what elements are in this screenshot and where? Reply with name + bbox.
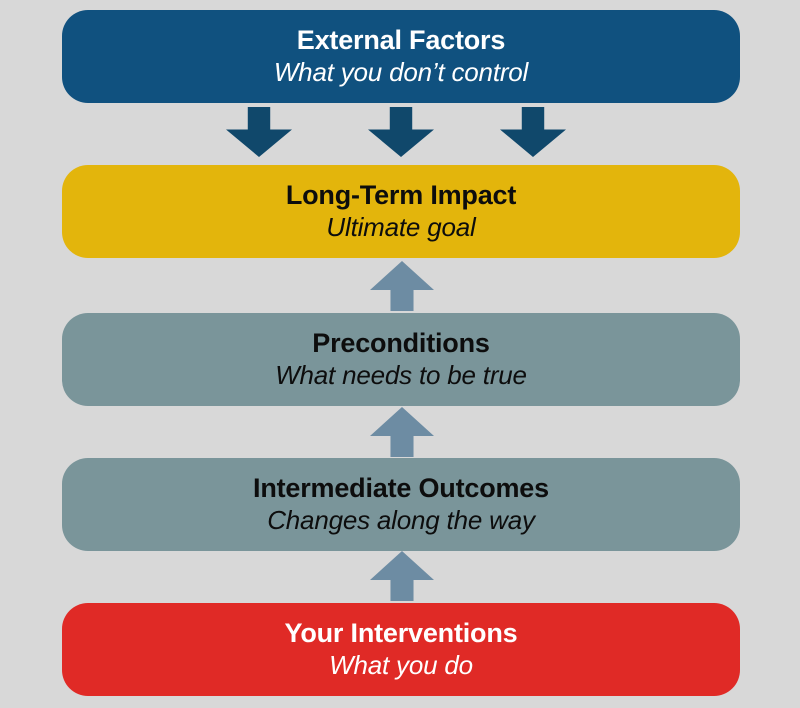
node-external-factors[interactable]: External Factors What you don’t control (62, 10, 740, 103)
node-title: Your Interventions (285, 619, 518, 648)
node-intermediate-outcomes[interactable]: Intermediate Outcomes Changes along the … (62, 458, 740, 551)
arrow-down-icon (226, 107, 292, 157)
theory-of-change-diagram: External Factors What you don’t control … (0, 0, 800, 708)
node-title: Intermediate Outcomes (253, 474, 549, 503)
node-preconditions[interactable]: Preconditions What needs to be true (62, 313, 740, 406)
arrow-up-icon (370, 261, 434, 311)
node-long-term-impact[interactable]: Long-Term Impact Ultimate goal (62, 165, 740, 258)
node-subtitle: What needs to be true (275, 361, 527, 390)
arrow-down-icon (500, 107, 566, 157)
node-subtitle: What you don’t control (274, 58, 528, 87)
node-title: Preconditions (312, 329, 489, 358)
arrow-down-icon (368, 107, 434, 157)
node-title: Long-Term Impact (286, 181, 516, 210)
arrow-up-icon (370, 407, 434, 457)
node-subtitle: What you do (329, 651, 473, 680)
arrow-up-icon (370, 551, 434, 601)
node-title: External Factors (297, 26, 505, 55)
node-subtitle: Changes along the way (267, 506, 535, 535)
node-your-interventions[interactable]: Your Interventions What you do (62, 603, 740, 696)
node-subtitle: Ultimate goal (326, 213, 475, 242)
